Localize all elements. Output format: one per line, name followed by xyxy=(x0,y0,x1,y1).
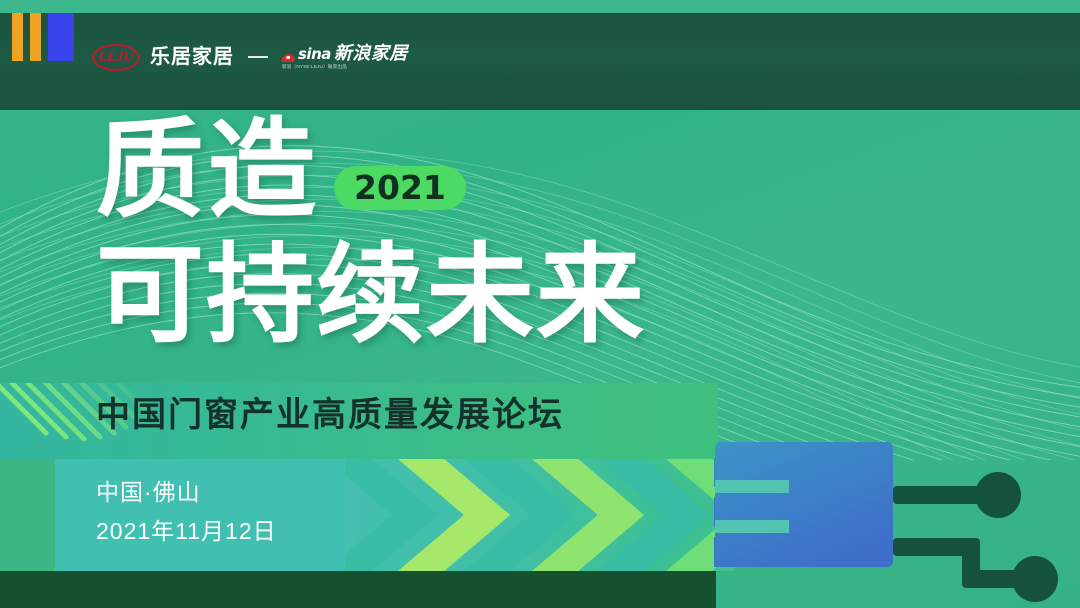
accent-bar-blue xyxy=(48,13,74,61)
chevron-arrows xyxy=(345,459,735,571)
leju-brand-name: 乐居家居 xyxy=(150,47,234,67)
sina-logo-top: sina 新浪家居 xyxy=(282,44,408,62)
right-bar-3 xyxy=(714,537,800,567)
right-blue-bars xyxy=(714,449,800,585)
right-bar-1 xyxy=(714,449,800,487)
accent-bars xyxy=(12,13,74,61)
sina-brand-name: 新浪家居 xyxy=(334,44,408,62)
top-green-strip xyxy=(0,0,1080,13)
right-bar-2 xyxy=(714,497,800,527)
logo-row[interactable]: LEJU 乐居家居 sina 新浪家居 新浪（NYSE:LEJU）联席出品 xyxy=(92,40,408,74)
title-text-primary: 质造 xyxy=(96,118,320,222)
sina-sub-caption: 新浪（NYSE:LEJU）联席出品 xyxy=(282,65,347,70)
event-location: 中国·佛山 xyxy=(96,481,277,504)
subtitle-text: 中国门窗产业高质量发展论坛 xyxy=(96,398,564,432)
lower-left-strip xyxy=(0,459,55,571)
accent-bar-orange-2 xyxy=(30,13,41,61)
year-badge: 2021 xyxy=(334,166,466,210)
title-line-2: 可持续未来 xyxy=(96,243,646,347)
event-info: 中国·佛山 2021年11月12日 xyxy=(96,481,277,543)
sina-logo-group: sina 新浪家居 新浪（NYSE:LEJU）联席出品 xyxy=(282,44,408,70)
event-date: 2021年11月12日 xyxy=(96,520,277,543)
footer-bar xyxy=(0,571,716,608)
logo-separator xyxy=(248,56,268,58)
title-line-1: 质造 2021 xyxy=(96,118,466,222)
sina-wordmark: sina xyxy=(298,47,331,62)
leju-logo-icon: LEJU xyxy=(92,44,140,71)
leju-logo-text: LEJU xyxy=(98,50,134,65)
sina-eye-icon xyxy=(282,51,295,62)
event-poster: LEJU 乐居家居 sina 新浪家居 新浪（NYSE:LEJU）联席出品 质造… xyxy=(0,0,1080,608)
title-text-secondary: 可持续未来 xyxy=(96,243,646,347)
accent-bar-orange-1 xyxy=(12,13,23,61)
